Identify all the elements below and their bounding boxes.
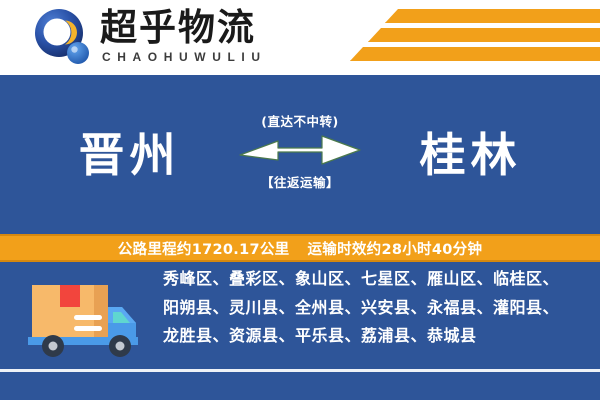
district-line: 阳朔县、灵川县、全州县、兴安县、永福县、灌阳县、 (163, 294, 583, 323)
route-info-bar: 公路里程约1720.17公里 运输时效约28小时40分钟 (0, 234, 600, 262)
footer-divider (0, 369, 600, 372)
double-headed-arrow-icon (238, 133, 362, 169)
direct-route-note: (直达不中转) (238, 111, 362, 130)
stripe-3 (350, 47, 600, 61)
distance-label: 公路里程约1720.17公里 (118, 238, 290, 259)
header: 超乎物流 CHAOHUWULIU (0, 0, 600, 75)
district-list: 秀峰区、叠彩区、象山区、七星区、雁山区、临桂区、 阳朔县、灵川县、全州县、兴安县… (163, 265, 583, 351)
orange-speed-stripes-icon (340, 6, 600, 70)
stripe-1 (385, 9, 600, 23)
delivery-truck-icon (22, 271, 152, 363)
round-trip-note: 【往返运输】 (238, 172, 362, 191)
route-row: 晋州 (直达不中转) 【往返运输】 桂林 (0, 105, 600, 230)
duration-label: 运输时效约28小时40分钟 (307, 238, 482, 259)
district-line: 龙胜县、资源县、平乐县、荔浦县、恭城县 (163, 322, 583, 351)
district-line: 秀峰区、叠彩区、象山区、七星区、雁山区、临桂区、 (163, 265, 583, 294)
route-middle: (直达不中转) 【往返运输】 (238, 111, 362, 191)
main-panel: 晋州 (直达不中转) 【往返运输】 桂林 公路里程约1720.17公里 运输时效… (0, 75, 600, 400)
brand-name-cn: 超乎物流 (100, 8, 256, 48)
origin-city: 晋州 (22, 125, 237, 185)
company-logo-icon (34, 8, 92, 66)
logistics-route-banner: 超乎物流 CHAOHUWULIU 晋州 (直达不中转) 【往返运输】 桂林 公路… (0, 0, 600, 400)
coverage-section: 秀峰区、叠彩区、象山区、七星区、雁山区、临桂区、 阳朔县、灵川县、全州县、兴安县… (0, 265, 600, 365)
brand-name-en: CHAOHUWULIU (102, 50, 267, 64)
stripe-2 (368, 28, 600, 42)
destination-city: 桂林 (363, 125, 578, 185)
